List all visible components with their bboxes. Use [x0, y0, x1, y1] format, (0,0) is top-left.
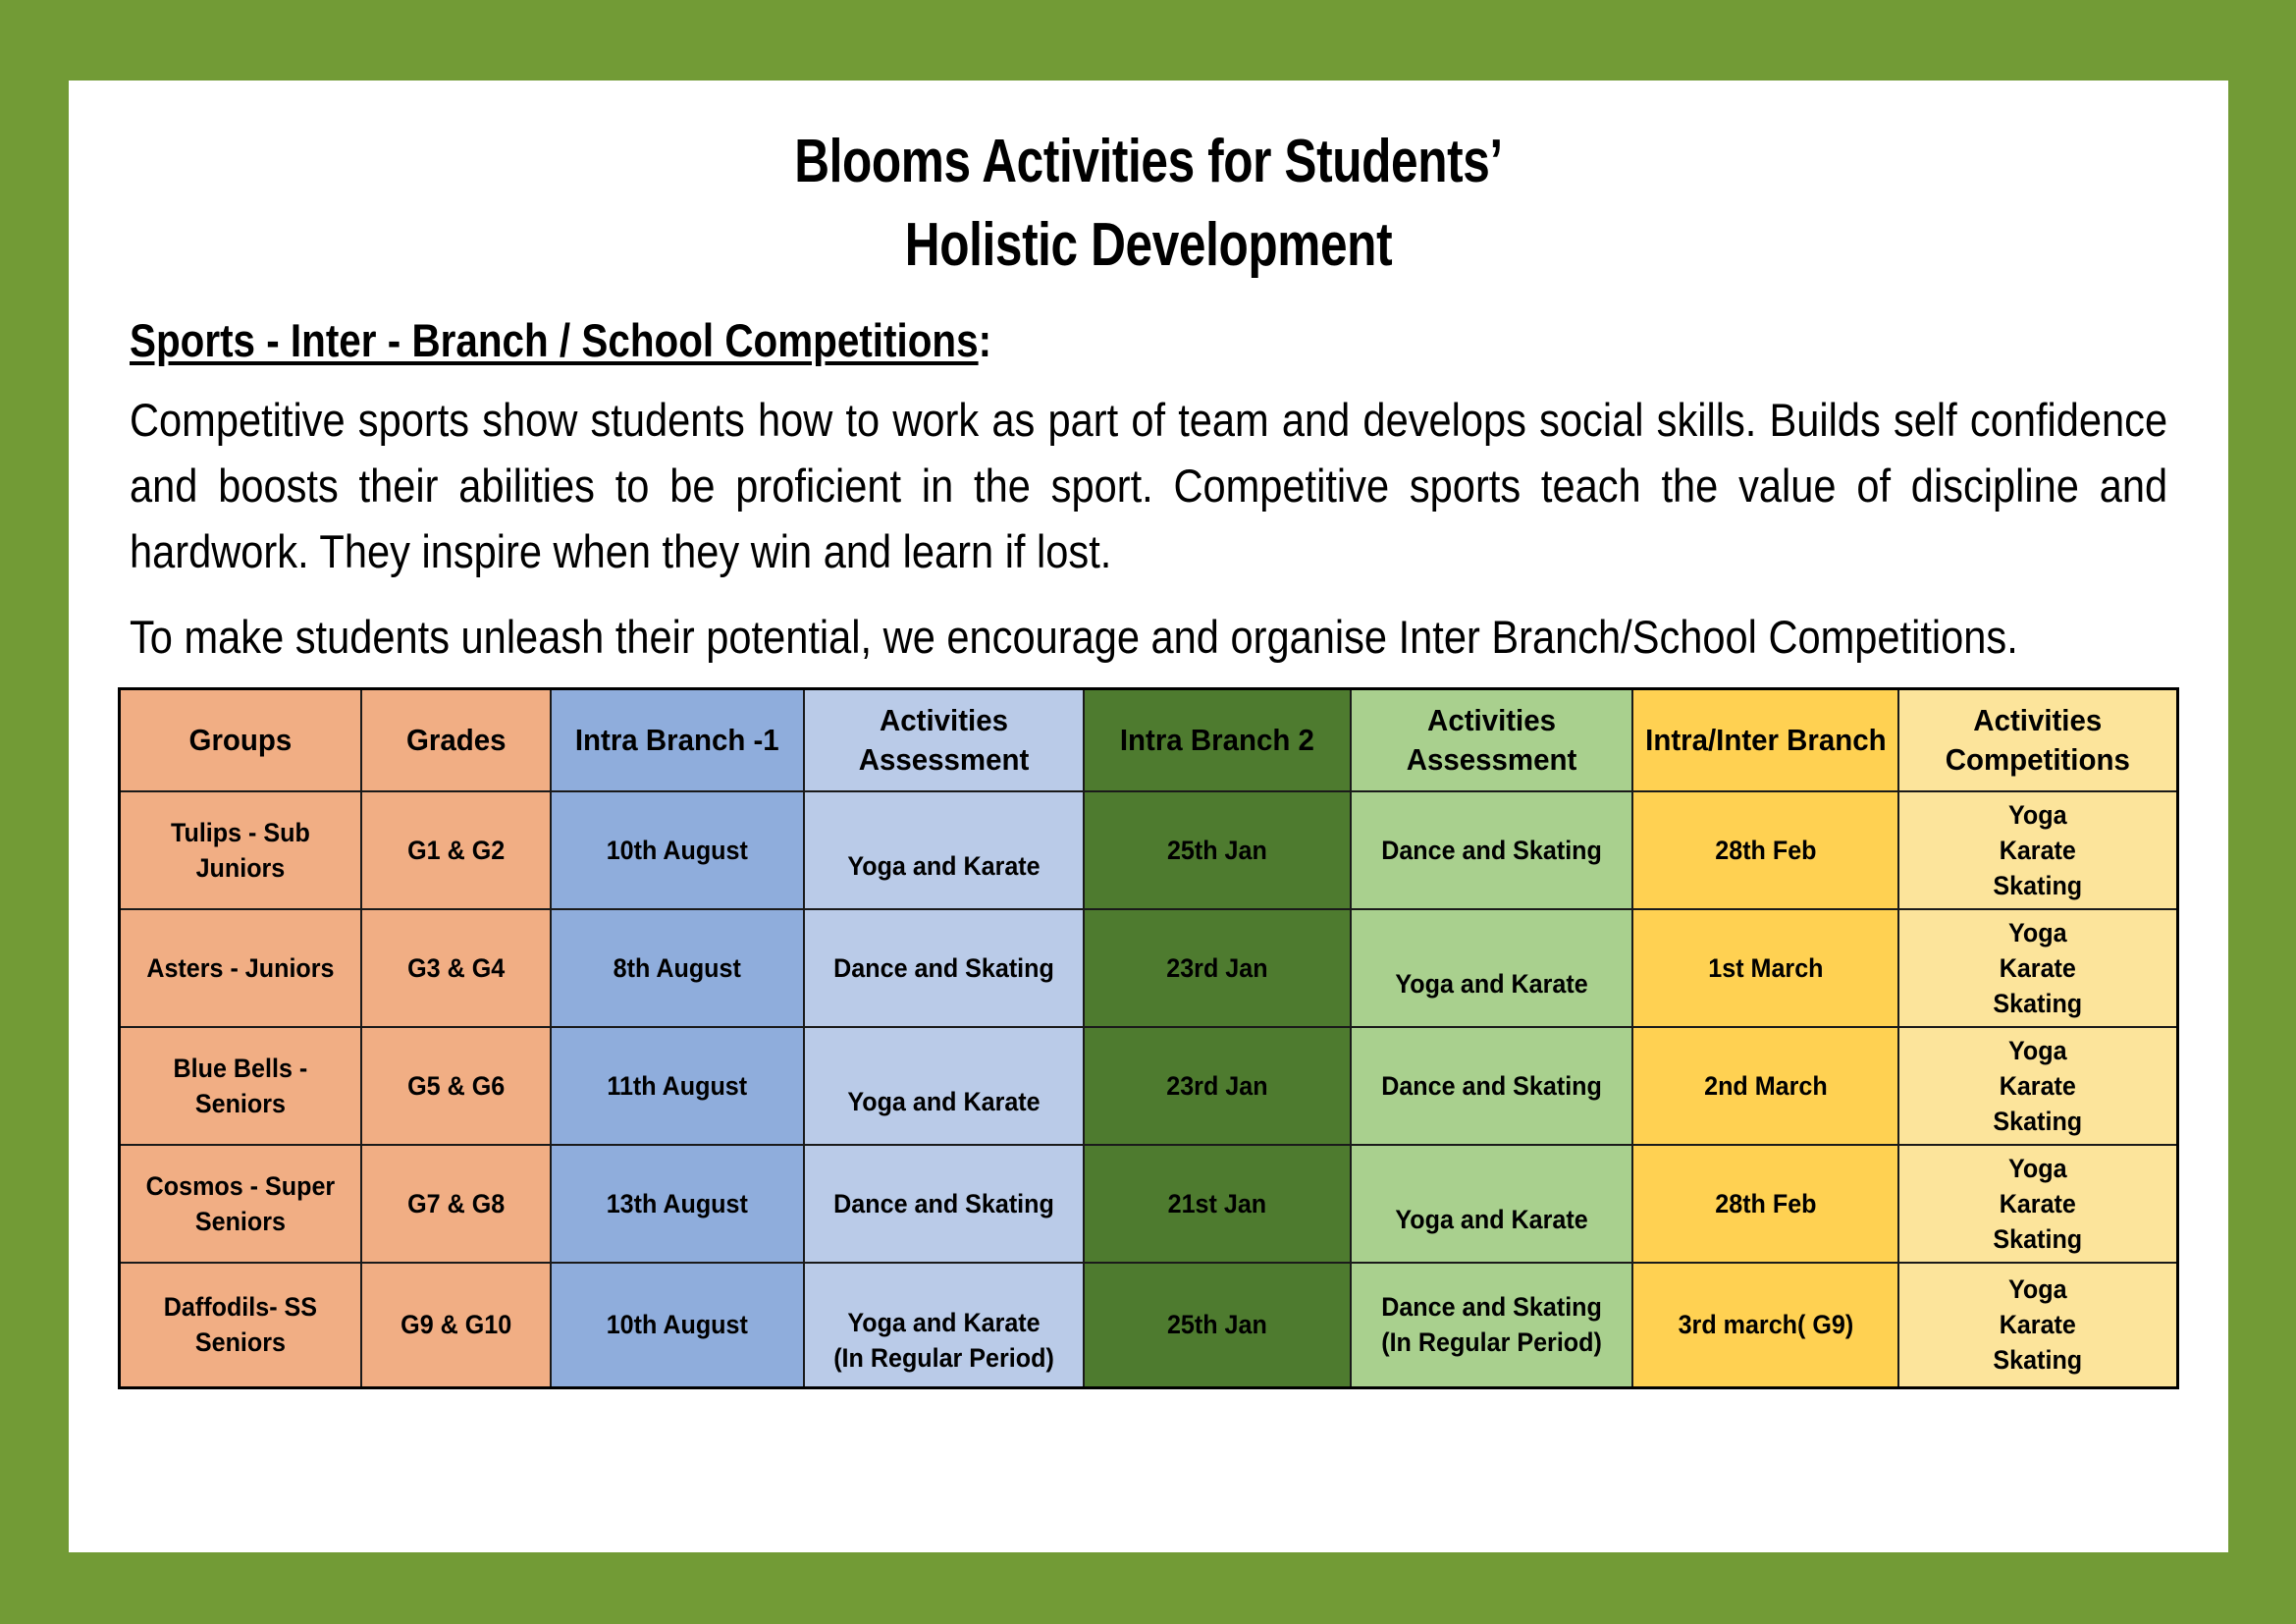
cell-group: Daffodils- SS Seniors — [120, 1263, 361, 1388]
section-heading: Sports - Inter - Branch / School Competi… — [130, 308, 1882, 373]
cell-intra-branch-1: 8th August — [551, 909, 804, 1027]
table-row: Asters - Juniors G3 & G4 8th August Danc… — [120, 909, 2178, 1027]
cell-assessment-1: Dance and Skating — [804, 909, 1084, 1027]
table-header-row: Groups Grades Intra Branch -1 Activities… — [120, 689, 2178, 791]
column-header-groups: Groups — [120, 689, 361, 791]
cell-intra-branch-2: 23rd Jan — [1084, 909, 1351, 1027]
cell-intra-inter-branch: 28th Feb — [1632, 791, 1899, 909]
paragraph-two: To make students unleash their potential… — [130, 604, 2167, 670]
column-header-grades: Grades — [361, 689, 551, 791]
cell-intra-branch-1: 10th August — [551, 791, 804, 909]
column-header-activities-assessment-1: Activities Assessment — [804, 689, 1084, 791]
cell-assessment-1: Yoga and Karate(In Regular Period) — [804, 1263, 1084, 1388]
column-header-intra-inter-branch: Intra/Inter Branch — [1632, 689, 1899, 791]
cell-grades: G5 & G6 — [361, 1027, 551, 1145]
cell-assessment-1: Dance and Skating — [804, 1145, 1084, 1263]
cell-activities-competitions: YogaKarateSkating — [1898, 791, 2177, 909]
table-row: Tulips - Sub Juniors G1 & G2 10th August… — [120, 791, 2178, 909]
schedule-table: Groups Grades Intra Branch -1 Activities… — [118, 687, 2179, 1389]
section-heading-underlined-text: Sports - Inter - Branch / School Competi… — [130, 314, 979, 366]
cell-intra-inter-branch: 2nd March — [1632, 1027, 1899, 1145]
slide-page: Blooms Activities for Students’ Holistic… — [69, 81, 2228, 1552]
cell-grades: G1 & G2 — [361, 791, 551, 909]
green-border-frame: Blooms Activities for Students’ Holistic… — [0, 0, 2296, 1624]
cell-assessment-2: Dance and Skating — [1351, 1027, 1632, 1145]
cell-intra-inter-branch: 1st March — [1632, 909, 1899, 1027]
cell-intra-inter-branch: 3rd march( G9) — [1632, 1263, 1899, 1388]
cell-assessment-1: Yoga and Karate — [804, 791, 1084, 909]
cell-activities-competitions: YogaKarateSkating — [1898, 909, 2177, 1027]
cell-assessment-2: Dance and Skating(In Regular Period) — [1351, 1263, 1632, 1388]
cell-assessment-1: Yoga and Karate — [804, 1027, 1084, 1145]
column-header-intra-branch-2: Intra Branch 2 — [1084, 689, 1351, 791]
cell-intra-branch-2: 23rd Jan — [1084, 1027, 1351, 1145]
table-row: Blue Bells - Seniors G5 & G6 11th August… — [120, 1027, 2178, 1145]
cell-intra-branch-1: 10th August — [551, 1263, 804, 1388]
page-title-line1: Blooms Activities for Students’ — [285, 120, 2012, 203]
column-header-activities-competitions: Activities Competitions — [1898, 689, 2177, 791]
table-row: Daffodils- SS Seniors G9 & G10 10th Augu… — [120, 1263, 2178, 1388]
cell-intra-branch-1: 13th August — [551, 1145, 804, 1263]
cell-assessment-2: Yoga and Karate — [1351, 909, 1632, 1027]
cell-intra-branch-2: 21st Jan — [1084, 1145, 1351, 1263]
cell-grades: G7 & G8 — [361, 1145, 551, 1263]
column-header-activities-assessment-2: Activities Assessment — [1351, 689, 1632, 791]
cell-assessment-2: Yoga and Karate — [1351, 1145, 1632, 1263]
cell-intra-branch-2: 25th Jan — [1084, 791, 1351, 909]
table-row: Cosmos - Super Seniors G7 & G8 13th Augu… — [120, 1145, 2178, 1263]
cell-intra-inter-branch: 28th Feb — [1632, 1145, 1899, 1263]
cell-intra-branch-2: 25th Jan — [1084, 1263, 1351, 1388]
cell-activities-competitions: YogaKarateSkating — [1898, 1145, 2177, 1263]
cell-group: Cosmos - Super Seniors — [120, 1145, 361, 1263]
cell-assessment-2: Dance and Skating — [1351, 791, 1632, 909]
column-header-intra-branch-1: Intra Branch -1 — [551, 689, 804, 791]
cell-group: Asters - Juniors — [120, 909, 361, 1027]
section-heading-colon: : — [979, 314, 991, 366]
page-title-line2: Holistic Development — [285, 203, 2012, 287]
page-title: Blooms Activities for Students’ Holistic… — [285, 81, 2012, 287]
cell-grades: G9 & G10 — [361, 1263, 551, 1388]
body-content: Sports - Inter - Branch / School Competi… — [69, 287, 2228, 670]
paragraph-one: Competitive sports show students how to … — [130, 387, 2167, 584]
cell-group: Blue Bells - Seniors — [120, 1027, 361, 1145]
schedule-table-container: Groups Grades Intra Branch -1 Activities… — [69, 670, 2228, 1389]
cell-group: Tulips - Sub Juniors — [120, 791, 361, 909]
cell-intra-branch-1: 11th August — [551, 1027, 804, 1145]
cell-activities-competitions: YogaKarateSkating — [1898, 1027, 2177, 1145]
cell-activities-competitions: YogaKarateSkating — [1898, 1263, 2177, 1388]
cell-grades: G3 & G4 — [361, 909, 551, 1027]
